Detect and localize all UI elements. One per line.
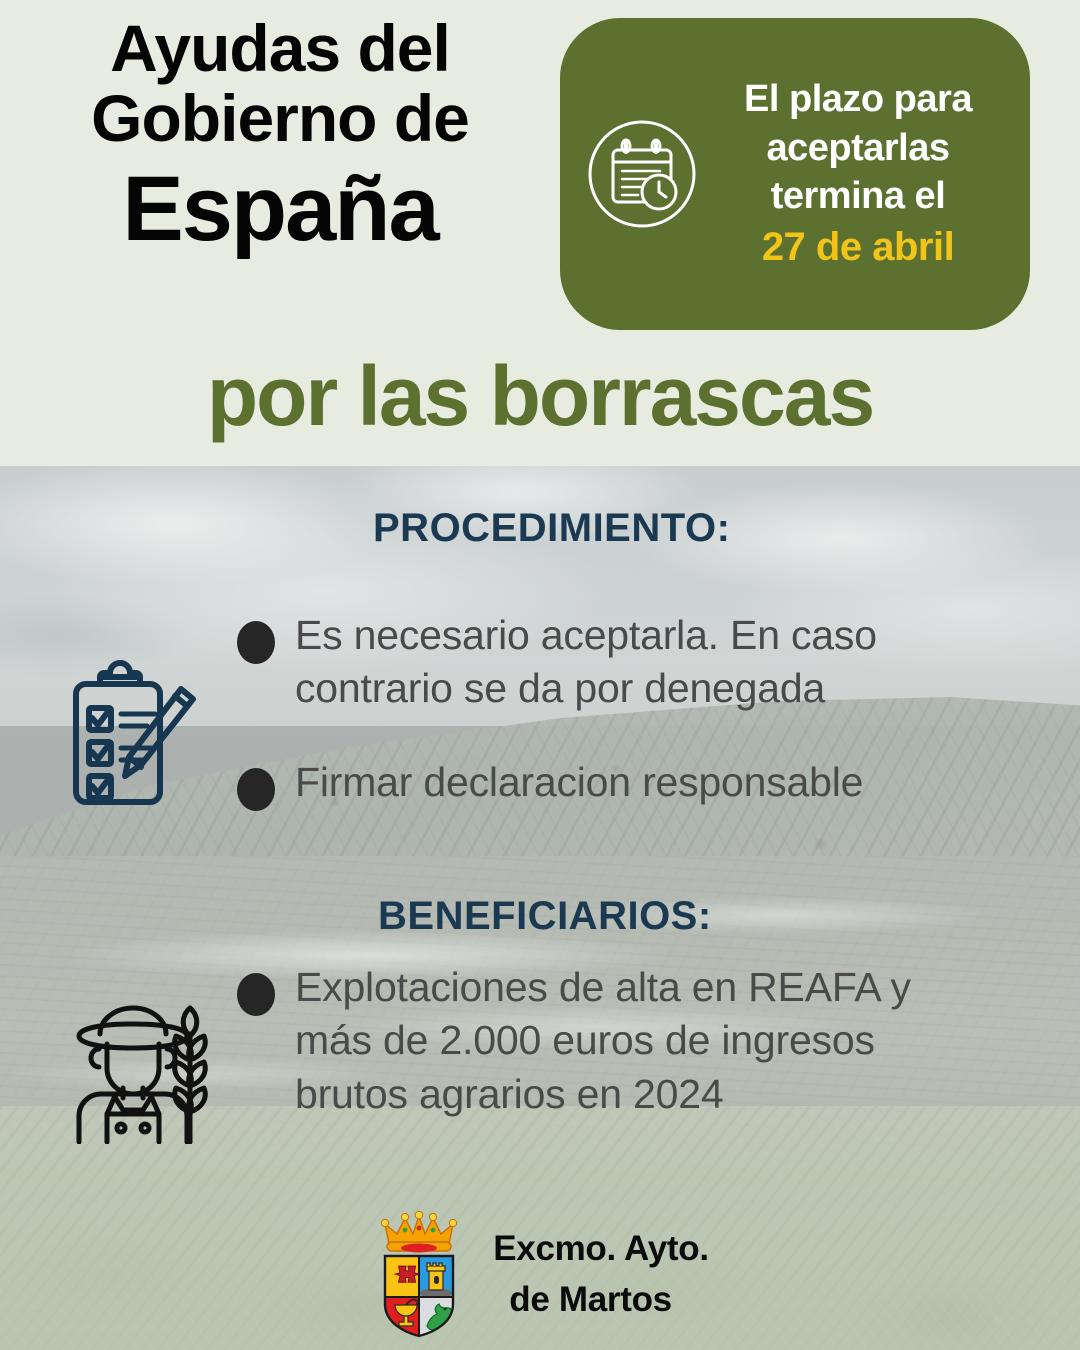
main-title: Ayudas del Gobierno de España — [0, 14, 560, 259]
deadline-text: El plazo para aceptarlas termina el 27 d… — [712, 75, 1030, 273]
footer-line-1: Excmo. Ayto. — [493, 1224, 709, 1275]
bullet-text: Firmar declaracion responsable — [295, 756, 863, 809]
title-line-1: Ayudas del — [0, 14, 560, 84]
martos-coat-of-arms-icon — [371, 1208, 467, 1343]
footer-line-2: de Martos — [493, 1275, 709, 1326]
title-line-3-espana: España — [0, 160, 560, 259]
section-heading-beneficiarios: BENEFICIARIOS: — [378, 894, 712, 939]
section-heading-procedimiento: PROCEDIMIENTO: — [373, 506, 730, 551]
title-line-2: Gobierno de — [0, 84, 560, 154]
bullet-text: Explotaciones de alta en REAFA y más de … — [295, 961, 955, 1121]
footer: Excmo. Ayto. de Martos — [0, 1200, 1080, 1350]
bullet-dot-icon — [237, 768, 275, 811]
bullet-dot-icon — [237, 973, 275, 1016]
deadline-badge: El plazo para aceptarlas termina el 27 d… — [560, 18, 1030, 330]
title-subtitle-green: por las borrascas — [0, 352, 1080, 440]
bullet-item: Firmar declaracion responsable — [237, 756, 863, 811]
clipboard-checklist-pencil-icon — [48, 650, 224, 831]
bullet-dot-icon — [237, 621, 275, 664]
bullet-item: Explotaciones de alta en REAFA y más de … — [237, 961, 955, 1121]
deadline-line-2: aceptarlas — [766, 127, 949, 169]
footer-city-name: Excmo. Ayto. de Martos — [493, 1224, 709, 1326]
deadline-line-1: El plazo para — [744, 78, 972, 120]
deadline-date: 27 de abril — [712, 221, 1004, 273]
deadline-line-3: termina el — [771, 175, 946, 217]
farmer-wheat-icon — [55, 994, 223, 1149]
bullet-item: Es necesario aceptarla. En caso contrari… — [237, 609, 955, 716]
calendar-clock-icon — [572, 110, 712, 238]
bullet-text: Es necesario aceptarla. En caso contrari… — [295, 609, 955, 716]
infographic-poster: Ayudas del Gobierno de España por las bo… — [0, 0, 1080, 1350]
